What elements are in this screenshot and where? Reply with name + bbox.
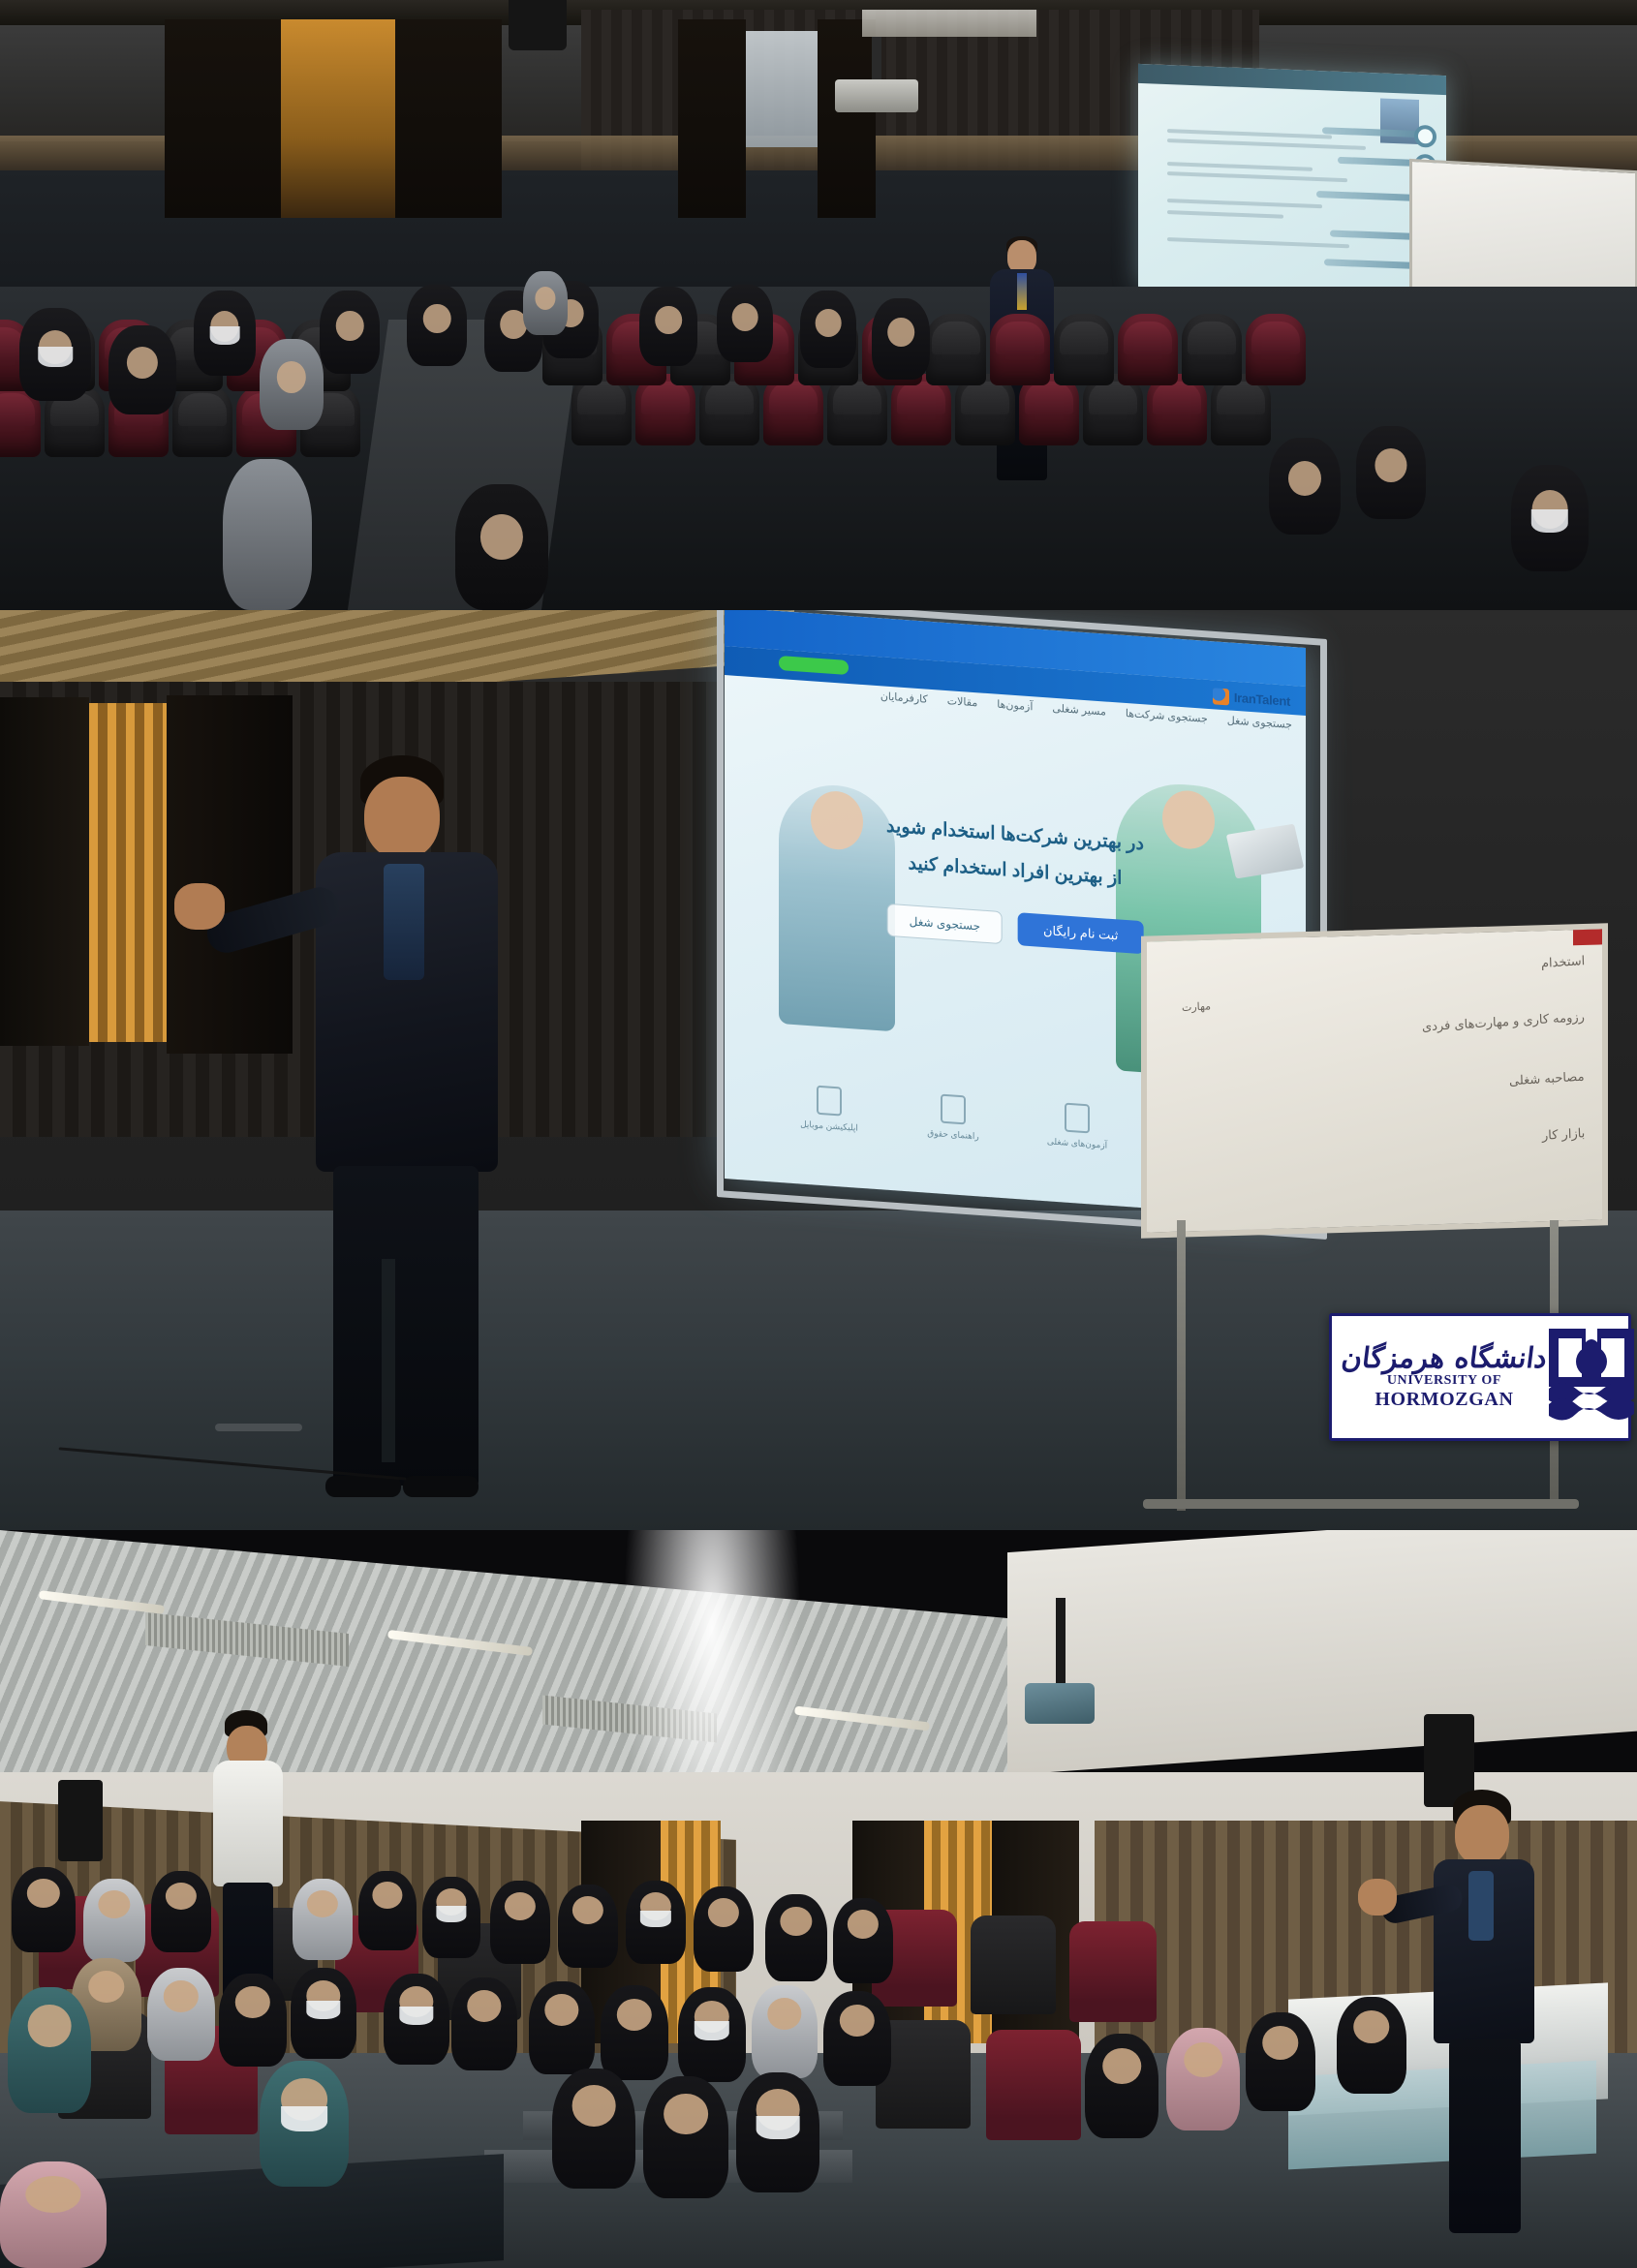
curtain-dark bbox=[167, 695, 293, 1054]
audience-member bbox=[601, 1985, 668, 2080]
audience-member bbox=[12, 1867, 76, 1952]
seat bbox=[1069, 1921, 1157, 2022]
audience-member bbox=[1356, 426, 1426, 519]
audience-member bbox=[260, 2061, 349, 2187]
presenter-shirt bbox=[1468, 1871, 1494, 1941]
audience-member bbox=[1337, 1997, 1406, 2094]
seat bbox=[986, 2030, 1081, 2140]
speaker-hand bbox=[174, 883, 225, 930]
university-logo-badge: دانشگاه هرمزگان UNIVERSITY OF HORMOZGAN bbox=[1329, 1313, 1631, 1441]
speaker-head bbox=[364, 777, 440, 860]
audience-member bbox=[219, 1974, 287, 2067]
audience-member bbox=[523, 271, 568, 335]
audience-member bbox=[422, 1877, 480, 1958]
curtain-orange bbox=[89, 703, 167, 1042]
audience-member bbox=[717, 285, 773, 362]
audience-member bbox=[678, 1987, 746, 2082]
whiteboard: استخدام رزومه کاری و مهارت‌های فردی مصاح… bbox=[1141, 923, 1608, 1238]
audience-member bbox=[639, 287, 697, 366]
presenter-head bbox=[1007, 240, 1036, 273]
audience-member bbox=[194, 291, 256, 376]
whiteboard-line: استخدام bbox=[1540, 954, 1585, 971]
projection-screen-cv bbox=[1138, 64, 1446, 298]
curtain-window-right bbox=[818, 19, 876, 218]
window bbox=[746, 31, 818, 147]
speaker-leg-gap bbox=[382, 1259, 395, 1462]
cv-timeline-dot bbox=[1414, 125, 1436, 148]
wall-speaker-icon bbox=[58, 1780, 103, 1861]
speaker-trousers bbox=[333, 1166, 479, 1486]
projector-mount bbox=[1056, 1598, 1066, 1687]
curtain-dark bbox=[0, 697, 89, 1046]
audience-member bbox=[108, 325, 176, 414]
audience-member bbox=[384, 1974, 449, 2065]
presenter-tie bbox=[1017, 273, 1027, 310]
audience-member bbox=[626, 1881, 686, 1964]
presenter-legs bbox=[1449, 2039, 1521, 2233]
audience-member bbox=[1511, 465, 1589, 571]
seat bbox=[971, 1916, 1056, 2014]
cv-text-line bbox=[1167, 171, 1347, 182]
whiteboard-leg bbox=[1177, 1220, 1186, 1511]
speaker bbox=[291, 755, 552, 1491]
audience-member bbox=[823, 1991, 891, 2086]
audience-member bbox=[552, 2069, 635, 2189]
audience-member bbox=[1269, 438, 1341, 535]
audience-member bbox=[765, 1894, 827, 1981]
audience-member bbox=[8, 1987, 91, 2113]
cv-text-line bbox=[1167, 210, 1283, 219]
audience-member bbox=[752, 1985, 818, 2078]
audience-member bbox=[1246, 2012, 1315, 2111]
audience-member-foreground bbox=[0, 2161, 107, 2268]
photo-collage: IranTalent کارفرمایان مقالات آزمون‌ها مس… bbox=[0, 0, 1637, 2268]
audience-member bbox=[260, 339, 324, 430]
audience-member bbox=[558, 1885, 618, 1968]
audience-member bbox=[643, 2076, 728, 2198]
cv-text-line bbox=[1167, 162, 1313, 171]
audience-member bbox=[490, 1881, 550, 1964]
cv-text-line bbox=[1167, 237, 1349, 248]
audience-member bbox=[83, 1879, 145, 1962]
audience-member bbox=[407, 285, 467, 366]
whiteboard-line: بازار کار bbox=[1541, 1126, 1585, 1144]
audience-member bbox=[1085, 2034, 1158, 2138]
ceiling-projector bbox=[1025, 1683, 1095, 1724]
speaker-shoe bbox=[325, 1476, 401, 1497]
audience-member bbox=[320, 291, 380, 374]
audience-member bbox=[529, 1981, 595, 2074]
air-duct bbox=[862, 10, 1036, 37]
logo-persian-name: دانشگاه هرمزگان bbox=[1340, 1344, 1548, 1372]
white-shirt bbox=[213, 1761, 283, 1886]
collage-panel-bottom bbox=[0, 1530, 1637, 2268]
audience-member bbox=[694, 1886, 754, 1972]
wall-speaker-icon bbox=[509, 0, 567, 50]
collage-panel-top bbox=[0, 0, 1637, 610]
audience-member bbox=[1166, 2028, 1240, 2130]
presenter bbox=[1426, 1790, 1542, 2245]
whiteboard-left-note: مهارت bbox=[1182, 999, 1211, 1014]
speaker-shoe bbox=[403, 1476, 479, 1497]
audience-member bbox=[358, 1871, 417, 1950]
curtain-dark-left bbox=[165, 19, 281, 218]
audience-member bbox=[147, 1968, 215, 2061]
audience-member bbox=[872, 298, 930, 380]
logo-text-block: دانشگاه هرمزگان UNIVERSITY OF HORMOZGAN bbox=[1342, 1344, 1547, 1411]
curtain-dark-mid bbox=[395, 19, 502, 218]
projector bbox=[835, 79, 918, 112]
audience-member bbox=[451, 1977, 517, 2070]
audience-member bbox=[151, 1871, 211, 1952]
curtain-orange bbox=[281, 19, 395, 218]
cv-text-line bbox=[1167, 129, 1332, 139]
speaker-shirt bbox=[384, 864, 424, 980]
equipment-stand bbox=[215, 1424, 302, 1431]
whiteboard-line: مصاحبه شغلی bbox=[1509, 1070, 1585, 1089]
audience-member-foreground bbox=[223, 459, 312, 610]
audience-member bbox=[19, 308, 91, 401]
ceiling-right bbox=[1007, 1530, 1637, 1775]
audience-member bbox=[833, 1898, 893, 1983]
cv-text-line bbox=[1167, 138, 1366, 150]
audience-member bbox=[736, 2072, 819, 2192]
curtain-window-left bbox=[678, 19, 746, 218]
whiteboard-line: رزومه کاری و مهارت‌های فردی bbox=[1422, 1010, 1585, 1035]
logo-english-line1: UNIVERSITY OF bbox=[1387, 1374, 1501, 1389]
cv-profile-photo bbox=[1380, 98, 1419, 144]
presenter-head bbox=[1455, 1805, 1509, 1865]
audience-member bbox=[291, 1968, 356, 2059]
whiteboard-corner-marker bbox=[1573, 923, 1602, 945]
audience-member-foreground bbox=[455, 484, 548, 610]
presenter-hand bbox=[1358, 1879, 1397, 1916]
projector-mount bbox=[872, 37, 881, 81]
audience-member bbox=[293, 1879, 353, 1960]
audience-member bbox=[800, 291, 856, 368]
logo-english-line2: HORMOZGAN bbox=[1374, 1390, 1513, 1410]
standing-attendee bbox=[209, 1710, 287, 2001]
whiteboard-base bbox=[1143, 1499, 1579, 1509]
cv-text-line bbox=[1167, 199, 1322, 208]
open-book-waves-icon bbox=[1547, 1327, 1636, 1427]
